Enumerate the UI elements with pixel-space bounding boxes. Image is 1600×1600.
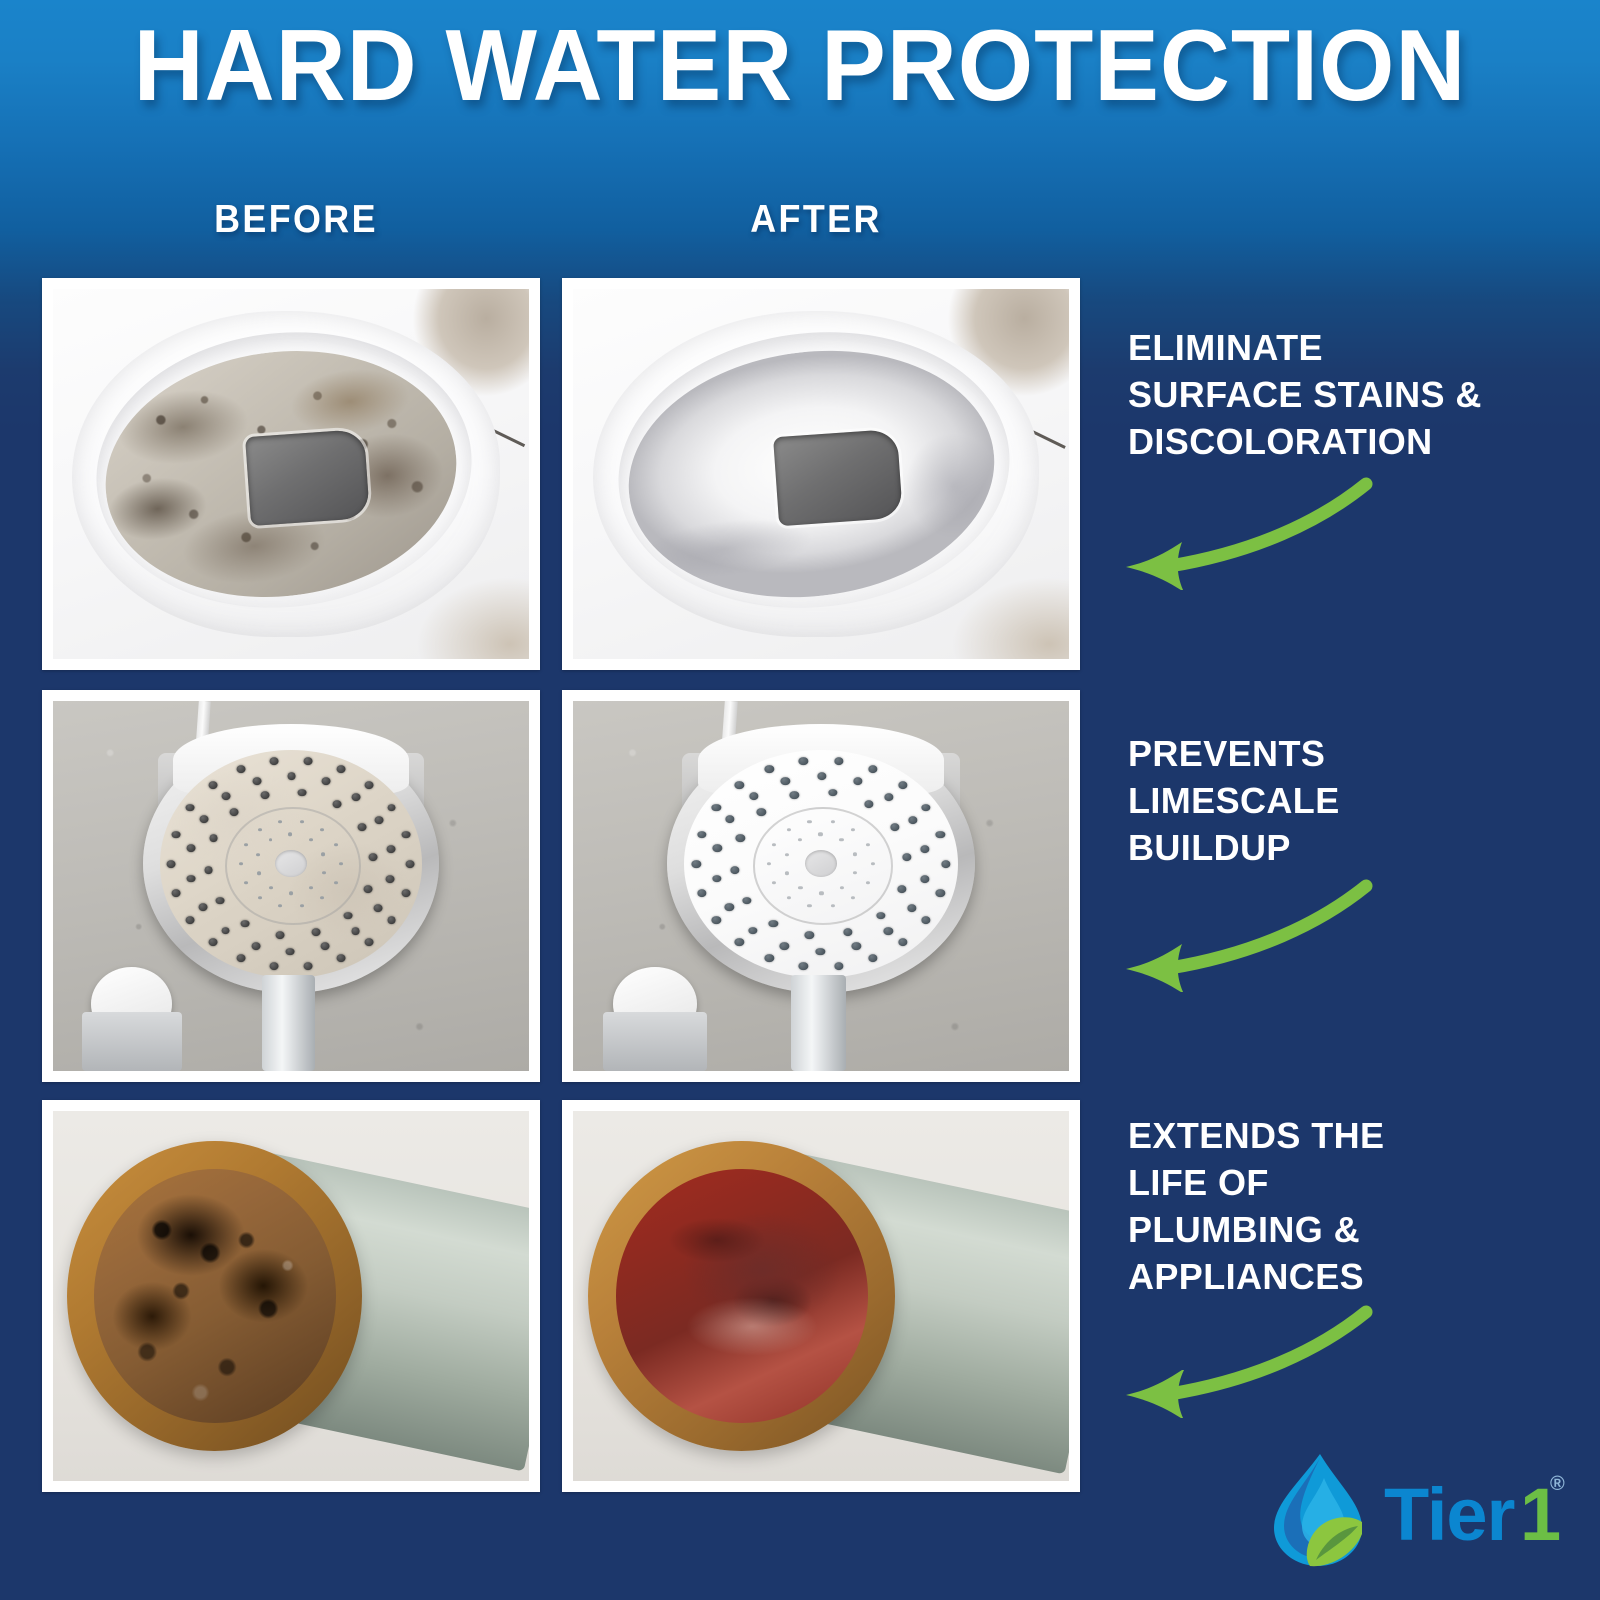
- benefit-text-block-3: EXTENDS THE LIFE OF PLUMBING & APPLIANCE…: [1128, 1112, 1568, 1300]
- benefit-line: DISCOLORATION: [1128, 418, 1568, 465]
- showerhead-nozzle-array: [160, 750, 423, 978]
- showerhead-nozzle: [187, 875, 196, 883]
- showerhead-spray-hole: [772, 843, 776, 846]
- showerhead-spray-hole: [798, 838, 802, 841]
- showerhead-nozzle: [864, 800, 873, 808]
- showerhead-spray-hole: [787, 828, 791, 831]
- photo-showerhead-after: [573, 701, 1069, 1071]
- showerhead-nozzle: [884, 793, 893, 801]
- showerhead-nozzle: [828, 789, 837, 797]
- showerhead-nozzle: [365, 938, 374, 946]
- showerhead-nozzle: [386, 845, 395, 853]
- showerhead-spray-hole: [239, 862, 243, 865]
- showerhead-spray-hole: [278, 904, 282, 907]
- showerhead-nozzle: [921, 916, 930, 924]
- showerhead-spray-hole: [807, 820, 811, 823]
- showerhead-nozzle: [186, 916, 195, 924]
- showerhead-nozzle: [890, 823, 899, 831]
- showerhead-nozzle: [921, 804, 930, 812]
- shower-knob-base: [82, 1012, 182, 1071]
- showerhead-nozzle: [401, 889, 410, 897]
- showerhead-spray-hole: [853, 871, 857, 874]
- logo-trademark-symbol: ®: [1550, 1473, 1565, 1495]
- benefit-line: APPLIANCES: [1128, 1253, 1568, 1300]
- showerhead-nozzle: [364, 885, 373, 893]
- pipe-cut-end: [67, 1141, 362, 1452]
- showerhead-nozzle: [358, 823, 367, 831]
- showerhead-nozzle: [816, 948, 825, 956]
- photo-frame-row2-before: [42, 690, 540, 1082]
- showerhead-nozzle: [352, 793, 361, 801]
- showerhead-spray-hole: [257, 872, 261, 875]
- benefit-line: EXTENDS THE: [1128, 1112, 1568, 1159]
- showerhead-nozzle: [781, 777, 790, 785]
- showerhead-nozzle: [868, 954, 877, 962]
- showerhead-nozzle: [735, 938, 744, 946]
- showerhead-nozzle: [853, 778, 862, 786]
- infographic-canvas: HARD WATER PROTECTION BEFORE AFTER: [0, 0, 1600, 1600]
- toilet-clean-image: [573, 289, 1069, 659]
- benefit-line: PLUMBING &: [1128, 1206, 1568, 1253]
- showerhead-nozzle: [799, 963, 808, 971]
- showerhead-nozzle: [209, 835, 218, 843]
- showerhead-spray-hole: [320, 896, 324, 899]
- showerhead-nozzle: [898, 938, 907, 946]
- showerhead-spray-hole: [244, 881, 248, 884]
- showerhead-nozzle: [187, 844, 196, 852]
- showerhead-nozzle: [199, 816, 208, 824]
- showerhead-nozzle: [401, 831, 410, 839]
- showerhead-spray-hole: [334, 881, 338, 884]
- showerhead-nozzle: [172, 831, 181, 839]
- showerhead-nozzle: [312, 928, 321, 936]
- showerhead-spray-hole: [334, 843, 338, 846]
- showerhead-spray-hole: [289, 832, 293, 835]
- showerhead-limescale-image: [53, 701, 529, 1071]
- toilet-drain-opening: [245, 429, 370, 526]
- showerhead-spray-hole: [851, 828, 855, 831]
- photo-toilet-after: [573, 289, 1069, 659]
- showerhead-nozzle: [712, 875, 721, 883]
- showerhead-spray-hole: [300, 904, 304, 907]
- showerhead-nozzle: [742, 897, 751, 905]
- showerhead-nozzle: [936, 831, 945, 839]
- showerhead-nozzle: [386, 876, 395, 884]
- showerhead-spray-hole: [269, 886, 273, 889]
- showerhead-nozzle: [757, 808, 766, 816]
- showerhead-nozzle: [897, 885, 906, 893]
- showerhead-spray-hole: [289, 892, 293, 895]
- showerhead-nozzle: [769, 920, 778, 928]
- showerhead-nozzle: [204, 866, 213, 874]
- showerhead-nozzle: [941, 860, 950, 868]
- showerhead-nozzle: [351, 927, 360, 935]
- showerhead-handle: [262, 975, 314, 1071]
- showerhead-spray-hole: [309, 838, 313, 841]
- showerhead-nozzle: [287, 772, 296, 780]
- curved-arrow-left-icon: [1104, 470, 1374, 590]
- showerhead-nozzle: [261, 792, 270, 800]
- benefit-line: SURFACE STAINS &: [1128, 371, 1568, 418]
- showerhead-spray-hole: [772, 881, 776, 884]
- benefit-line: LIFE OF: [1128, 1159, 1568, 1206]
- showerhead-spray-hole: [339, 862, 343, 865]
- showerhead-nozzle: [748, 927, 757, 935]
- showerhead-spray-hole: [309, 886, 313, 889]
- showerhead-spray-hole: [831, 904, 835, 907]
- showerhead-nozzle: [365, 782, 374, 790]
- showerhead-spray-hole: [798, 886, 802, 889]
- showerhead-face-scaled: [160, 750, 423, 978]
- showerhead-nozzle: [241, 920, 250, 928]
- showerhead-spray-hole: [871, 862, 875, 865]
- showerhead-nozzle-array: [684, 750, 958, 978]
- water-droplet-leaf-icon: [1274, 1454, 1362, 1566]
- showerhead-nozzle: [222, 792, 231, 800]
- showerhead-nozzle: [876, 912, 885, 920]
- showerhead-nozzle: [344, 912, 353, 920]
- showerhead-nozzle: [369, 854, 378, 862]
- showerhead-nozzle: [936, 889, 945, 897]
- showerhead-nozzle: [304, 757, 313, 765]
- showerhead-body: [143, 734, 438, 993]
- photo-toilet-before: [53, 289, 529, 659]
- photo-frame-row1-after: [562, 278, 1080, 670]
- showerhead-nozzle: [920, 845, 929, 853]
- showerhead-spray-hole: [258, 896, 262, 899]
- showerhead-nozzle: [172, 889, 181, 897]
- showerhead-nozzle: [298, 789, 307, 797]
- column-label-before: BEFORE: [112, 198, 480, 242]
- showerhead-nozzle: [221, 927, 230, 935]
- showerhead-nozzle: [332, 800, 341, 808]
- photo-pipe-after: [573, 1111, 1069, 1481]
- showerhead-spray-hole: [785, 872, 789, 875]
- showerhead-nozzle: [270, 757, 279, 765]
- showerhead-nozzle: [843, 928, 852, 936]
- showerhead-spray-hole: [767, 862, 771, 865]
- benefit-line: ELIMINATE: [1128, 324, 1568, 371]
- showerhead-spray-hole: [807, 904, 811, 907]
- showerhead-handle: [791, 975, 846, 1071]
- showerhead-nozzle: [713, 844, 722, 852]
- showerhead-nozzle: [780, 942, 789, 950]
- showerhead-nozzle: [884, 927, 893, 935]
- showerhead-nozzle: [817, 772, 826, 780]
- showerhead-spray-hole: [269, 838, 273, 841]
- showerhead-nozzle: [374, 816, 383, 824]
- showerhead-nozzle: [790, 792, 799, 800]
- showerhead-nozzle: [167, 860, 176, 868]
- showerhead-nozzle: [251, 942, 260, 950]
- showerhead-nozzle: [697, 831, 706, 839]
- showerhead-nozzle: [336, 766, 345, 774]
- showerhead-spray-hole: [866, 843, 870, 846]
- shower-knob-base: [603, 1012, 707, 1071]
- photo-frame-row1-before: [42, 278, 540, 670]
- showerhead-nozzle: [735, 782, 744, 790]
- showerhead-nozzle: [322, 778, 331, 786]
- showerhead-spray-hole: [853, 853, 857, 856]
- showerhead-nozzle: [868, 766, 877, 774]
- showerhead-nozzle: [208, 938, 217, 946]
- toilet-stained-image: [53, 289, 529, 659]
- page-title: HARD WATER PROTECTION: [32, 14, 1568, 119]
- photo-showerhead-before: [53, 701, 529, 1071]
- showerhead-nozzle: [805, 931, 814, 939]
- showerhead-nozzle: [692, 860, 701, 868]
- showerhead-nozzle: [304, 963, 313, 971]
- showerhead-nozzle: [321, 943, 330, 951]
- benefit-text-block-2: PREVENTS LIMESCALE BUILDUP: [1128, 730, 1568, 871]
- showerhead-nozzle: [749, 792, 758, 800]
- photo-pipe-before: [53, 1111, 529, 1481]
- showerhead-nozzle: [712, 916, 721, 924]
- showerhead-nozzle: [237, 954, 246, 962]
- pipe-corroded-image: [53, 1111, 529, 1481]
- showerhead-nozzle: [237, 766, 246, 774]
- showerhead-spray-hole: [787, 896, 791, 899]
- showerhead-nozzle: [387, 916, 396, 924]
- showerhead-nozzle: [712, 804, 721, 812]
- pipe-bore-clear: [616, 1169, 868, 1424]
- showerhead-nozzle: [229, 808, 238, 816]
- showerhead-nozzle: [765, 766, 774, 774]
- showerhead-nozzle: [907, 904, 916, 912]
- showerhead-clean-image: [573, 701, 1069, 1071]
- showerhead-nozzle: [252, 777, 261, 785]
- showerhead-spray-hole: [866, 881, 870, 884]
- benefit-line: PREVENTS: [1128, 730, 1568, 777]
- showerhead-nozzle: [736, 835, 745, 843]
- curved-arrow-left-icon: [1104, 872, 1374, 992]
- showerhead-nozzle: [275, 931, 284, 939]
- pipe-clean-image: [573, 1111, 1069, 1481]
- showerhead-nozzle: [208, 782, 217, 790]
- showerhead-spray-hole: [258, 828, 262, 831]
- showerhead-nozzle: [765, 954, 774, 962]
- photo-frame-row3-after: [562, 1100, 1080, 1492]
- showerhead-nozzle: [286, 948, 295, 956]
- showerhead-spray-hole: [300, 820, 304, 823]
- pipe-bore-clogged: [94, 1169, 336, 1424]
- showerhead-spray-hole: [278, 820, 282, 823]
- showerhead-nozzle: [920, 876, 929, 884]
- showerhead-nozzle: [898, 782, 907, 790]
- showerhead-spray-hole: [322, 871, 326, 874]
- showerhead-nozzle: [834, 963, 843, 971]
- showerhead-nozzle: [387, 804, 396, 812]
- showerhead-nozzle: [725, 816, 734, 824]
- showerhead-nozzle: [834, 757, 843, 765]
- tier1-logo[interactable]: Tier 1 ®: [1258, 1448, 1578, 1572]
- showerhead-face-clean: [684, 750, 958, 978]
- showerhead-body: [667, 734, 975, 993]
- showerhead-spray-hole: [839, 838, 843, 841]
- showerhead-nozzle: [902, 854, 911, 862]
- benefit-line: BUILDUP: [1128, 824, 1568, 871]
- curved-arrow-left-icon: [1104, 1298, 1374, 1418]
- showerhead-nozzle: [186, 804, 195, 812]
- showerhead-spray-hole: [819, 892, 823, 895]
- showerhead-nozzle: [725, 903, 734, 911]
- showerhead-spray-hole: [321, 853, 325, 856]
- showerhead-nozzle: [406, 860, 415, 868]
- showerhead-spray-hole: [831, 820, 835, 823]
- showerhead-nozzle: [374, 904, 383, 912]
- toilet-drain-opening: [773, 429, 903, 526]
- column-label-after: AFTER: [632, 198, 1000, 242]
- showerhead-spray-hole: [840, 886, 844, 889]
- photo-frame-row3-before: [42, 1100, 540, 1492]
- showerhead-nozzle: [336, 954, 345, 962]
- showerhead-nozzle: [799, 757, 808, 765]
- showerhead-spray-hole: [320, 828, 324, 831]
- showerhead-nozzle: [852, 943, 861, 951]
- showerhead-spray-hole: [244, 843, 248, 846]
- benefit-line: LIMESCALE: [1128, 777, 1568, 824]
- showerhead-nozzle: [730, 866, 739, 874]
- showerhead-spray-hole: [818, 832, 822, 835]
- showerhead-nozzle: [908, 816, 917, 824]
- showerhead-nozzle: [199, 903, 208, 911]
- showerhead-nozzle: [697, 889, 706, 897]
- pipe-cut-end: [588, 1141, 896, 1452]
- showerhead-spray-hole: [256, 853, 260, 856]
- showerhead-spray-hole: [785, 853, 789, 856]
- showerhead-nozzle: [270, 963, 279, 971]
- showerhead-nozzle: [215, 897, 224, 905]
- showerhead-spray-hole: [851, 896, 855, 899]
- logo-wordmark: Tier: [1384, 1473, 1515, 1556]
- benefit-text-block-1: ELIMINATE SURFACE STAINS & DISCOLORATION: [1128, 324, 1568, 465]
- photo-frame-row2-after: [562, 690, 1080, 1082]
